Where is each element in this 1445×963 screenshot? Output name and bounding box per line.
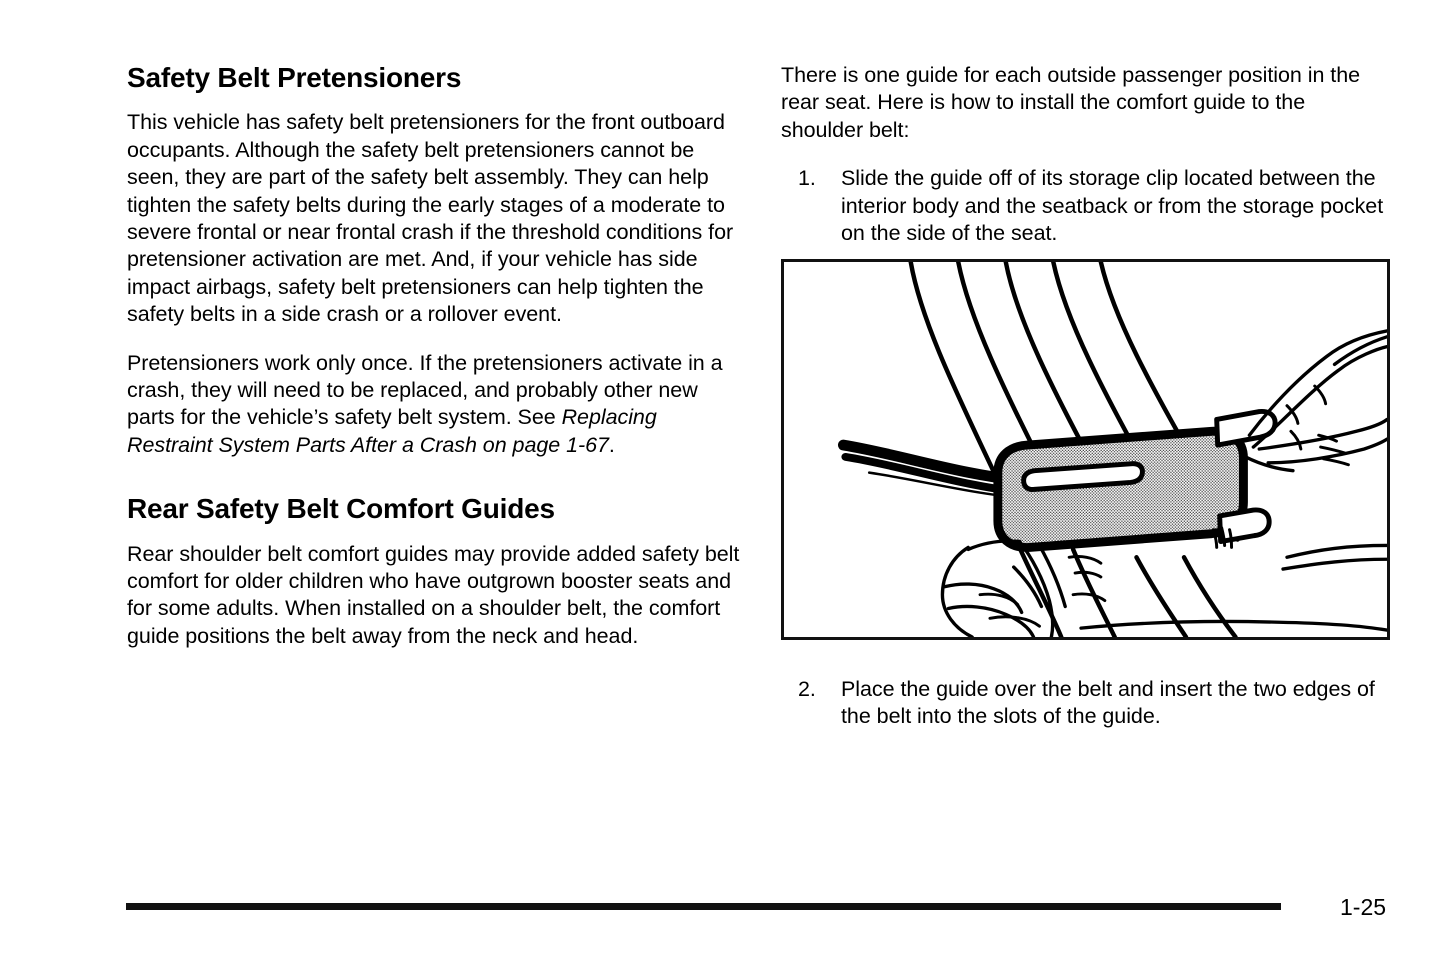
- forearm-lower: [1081, 621, 1387, 630]
- illustration-comfort-guide-install: [781, 259, 1390, 640]
- paragraph-pretensioners-description: This vehicle has safety belt pretensione…: [127, 109, 742, 328]
- comfort-guide-body: [998, 431, 1244, 547]
- right-column-continued: 2.Place the guide over the belt and inse…: [781, 676, 1393, 731]
- subsection-title-comfort-guides: Rear Safety Belt Comfort Guides: [127, 493, 742, 524]
- forearm-right: [1283, 545, 1387, 569]
- paragraph-guide-intro: There is one guide for each outside pass…: [781, 62, 1393, 144]
- footer-divider: [126, 903, 1281, 910]
- step-text: Place the guide over the belt and insert…: [841, 677, 1375, 728]
- page-number: 1-25: [1340, 894, 1440, 921]
- hand-upper: [1245, 331, 1387, 471]
- list-item: 1.Slide the guide off of its storage cli…: [781, 165, 1393, 247]
- install-steps-part-1: 1.Slide the guide off of its storage cli…: [781, 165, 1393, 247]
- right-column: There is one guide for each outside pass…: [781, 62, 1393, 247]
- step-text: Slide the guide off of its storage clip …: [841, 166, 1383, 245]
- step-number: 2.: [798, 676, 832, 703]
- step-number: 1.: [798, 165, 832, 192]
- paragraph-text-tail: .: [609, 433, 615, 457]
- comfort-guide-line-drawing: [784, 262, 1387, 637]
- list-item: 2.Place the guide over the belt and inse…: [781, 676, 1393, 731]
- hand-lower: [942, 541, 1065, 637]
- install-steps-part-2: 2.Place the guide over the belt and inse…: [781, 676, 1393, 731]
- manual-page: Safety Belt Pretensioners This vehicle h…: [0, 0, 1445, 963]
- left-column: Safety Belt Pretensioners This vehicle h…: [127, 62, 742, 650]
- page-title: Safety Belt Pretensioners: [127, 62, 742, 93]
- paragraph-comfort-guides-description: Rear shoulder belt comfort guides may pr…: [127, 541, 742, 651]
- paragraph-pretensioners-replacement: Pretensioners work only once. If the pre…: [127, 350, 742, 460]
